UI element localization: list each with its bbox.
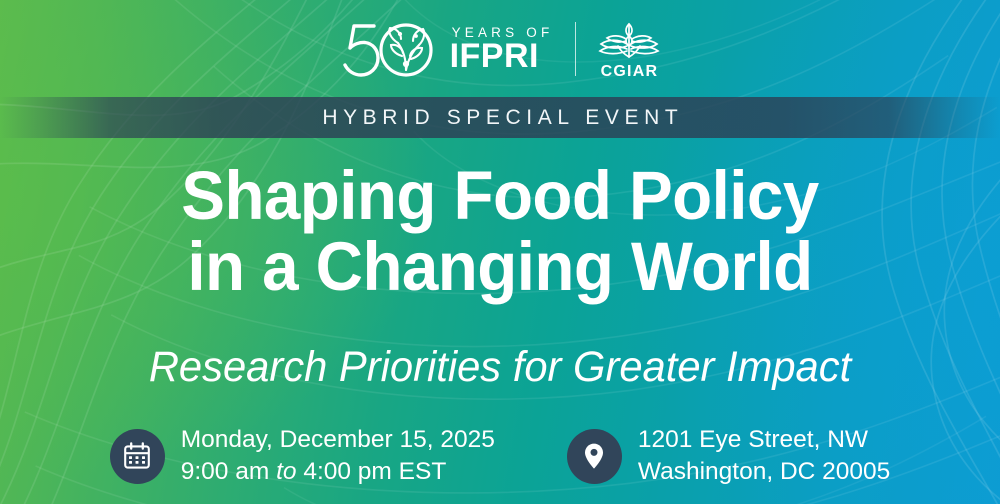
event-band-label: HYBRID SPECIAL EVENT [317,106,684,130]
event-time-connector: to [276,458,296,485]
cgiar-wheat-emblem-icon [598,17,660,61]
event-location-item: 1201 Eye Street, NW Washington, DC 20005 [567,426,890,486]
cgiar-logo: CGIAR [598,17,660,81]
ifpri-name: IFPRI [450,41,539,72]
calendar-icon [122,441,152,471]
hybrid-special-event-band: HYBRID SPECIAL EVENT [0,97,1000,138]
ifpri-wordmark: YEARS OF IFPRI [450,26,554,73]
logo-divider [575,22,576,76]
map-pin-icon [579,441,609,471]
event-date-line: Monday, December 15, 2025 [181,426,495,454]
event-banner: YEARS OF IFPRI [0,0,1000,504]
calendar-icon-badge [110,429,165,484]
page-subtitle: Research Priorities for Greater Impact [15,343,985,392]
map-pin-icon-badge [567,429,622,484]
page-title: Shaping Food Policy in a Changing World [0,160,1000,302]
cgiar-name: CGIAR [601,63,659,81]
event-time-start: 9:00 am [181,458,270,485]
event-date-text: Monday, December 15, 2025 9:00 am to 4:0… [181,426,495,486]
ifpri-leaf-emblem-icon [340,18,440,80]
event-time-end: 4:00 pm EST [303,458,446,485]
logo-row: YEARS OF IFPRI [0,12,1000,86]
headline-line-2: in a Changing World [25,231,975,302]
event-address-line-2: Washington, DC 20005 [638,458,890,486]
event-location-text: 1201 Eye Street, NW Washington, DC 20005 [638,426,890,486]
ifpri-logo: YEARS OF IFPRI [340,18,554,80]
event-address-line-1: 1201 Eye Street, NW [638,426,890,454]
event-date-item: Monday, December 15, 2025 9:00 am to 4:0… [110,426,495,486]
event-details-row: Monday, December 15, 2025 9:00 am to 4:0… [0,418,1000,494]
event-time-line: 9:00 am to 4:00 pm EST [181,458,495,486]
headline-line-1: Shaping Food Policy [25,160,975,231]
